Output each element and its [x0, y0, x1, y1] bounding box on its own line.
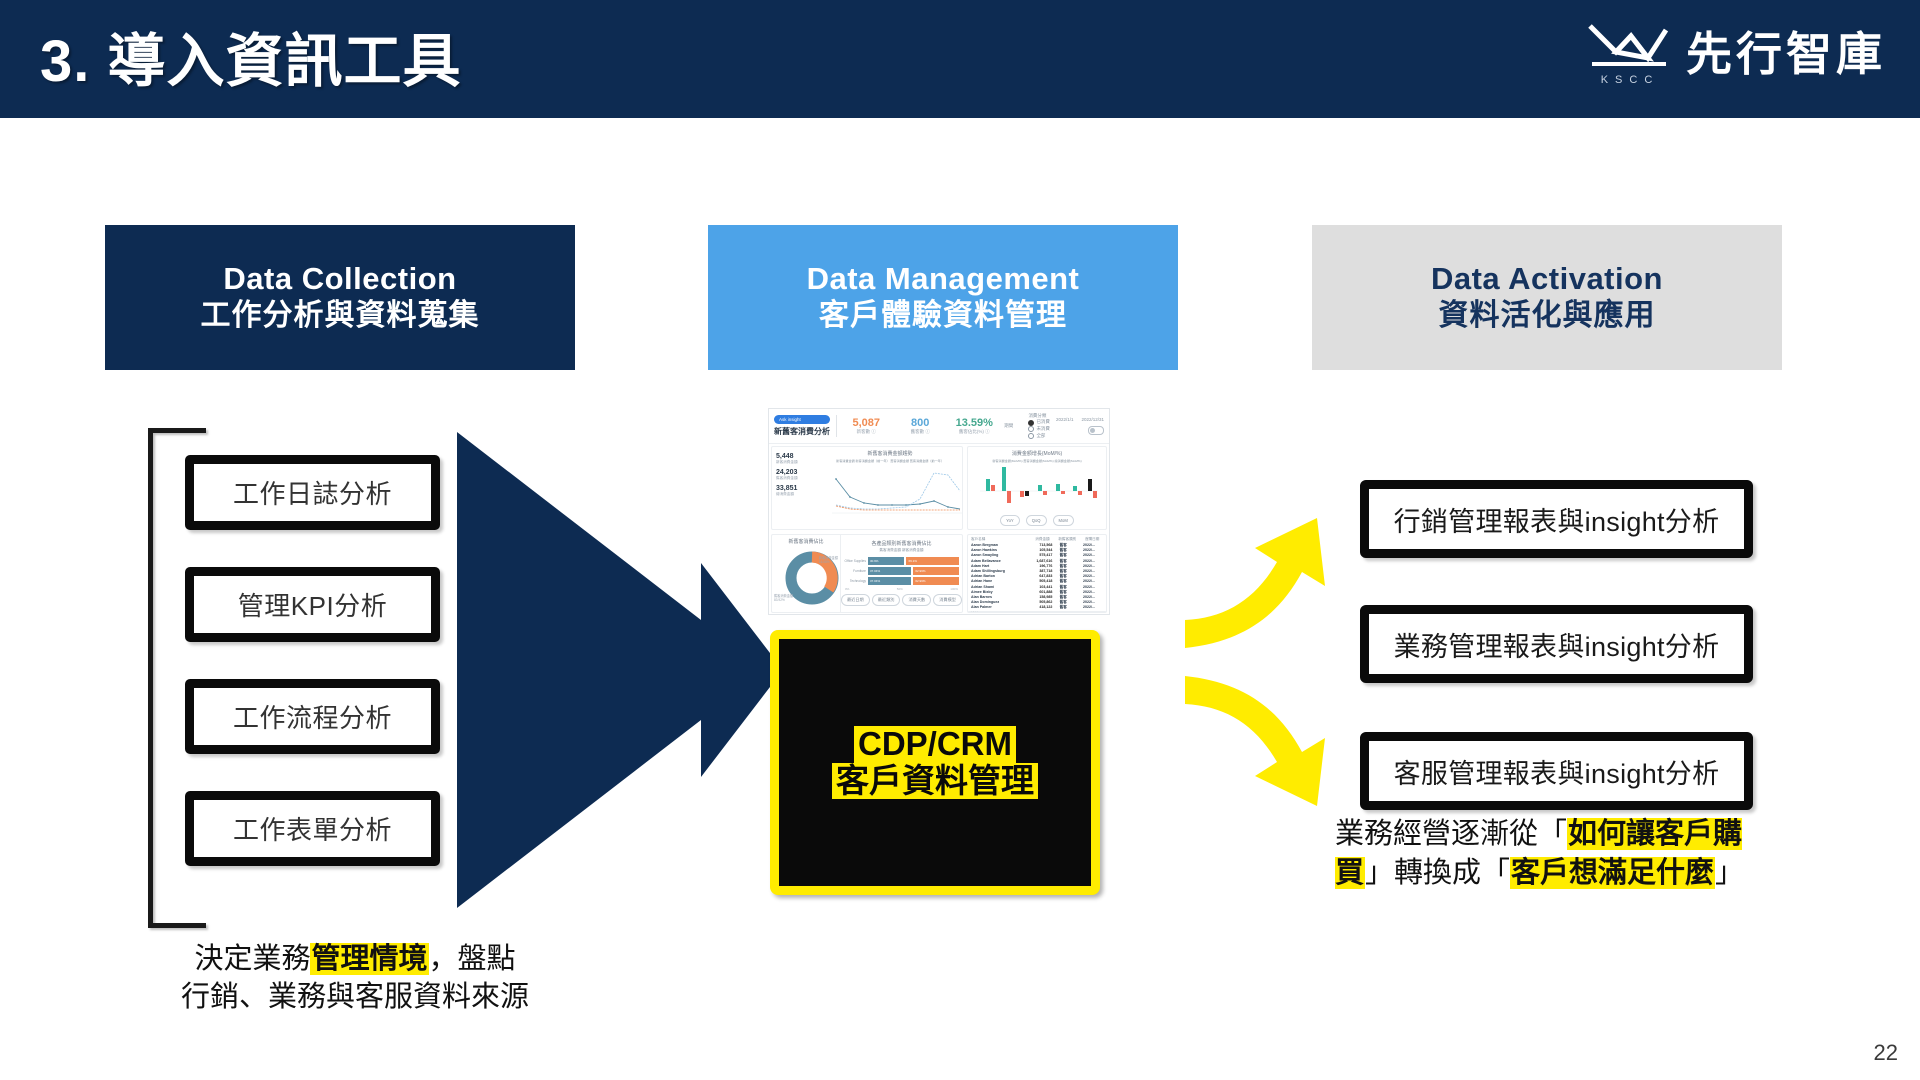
metric-label: 舊客消費金額	[776, 476, 818, 481]
caption-right-pre: 業務經營逐漸從「	[1335, 818, 1567, 850]
metric-label: 總消費金額	[776, 492, 818, 497]
dashboard-title: 新舊客消費分析	[774, 426, 830, 437]
filter-pill[interactable]: 消費天數	[902, 594, 931, 606]
dimension-filter[interactable]: 消費分類 已消費 未消費 全部	[1028, 413, 1050, 440]
metric-value: 24,203	[776, 469, 818, 476]
bar-segment-old: 30.9%	[868, 557, 905, 565]
left-box-label: 工作流程分析	[233, 698, 392, 735]
bar-segment-old: 37.04%	[868, 567, 911, 575]
bar-row: Office Supplies 30.9% 69.1%	[844, 557, 959, 565]
bar-label: Office Supplies	[844, 559, 866, 563]
bar-segment-new: 62.96%	[913, 567, 959, 575]
caption-left-pre: 決定業務	[194, 943, 310, 975]
brand-logo: KSCC 先行智庫	[1586, 18, 1886, 84]
radio-dot-icon	[1028, 433, 1034, 439]
bar-segment-old: 37.04%	[868, 577, 911, 585]
left-box-4: 工作表單分析	[185, 791, 440, 866]
cdp-crm-box: CDP/CRM 客戶資料管理	[770, 630, 1100, 895]
table-total-row: 總計 1,568,501,125	[968, 611, 1106, 613]
table-body: Aaron Bergman713,568舊客2022/...Aaron Hawk…	[968, 543, 1106, 611]
column-header-data-collection: Data Collection 工作分析與資料蒐集	[105, 225, 575, 370]
radio-label: 未消費	[1036, 426, 1050, 433]
kpi-returning-customers: 800 舊客數 ⓘ	[896, 417, 944, 435]
left-box-label: 管理KPI分析	[238, 586, 387, 623]
caption-left: 決定業務管理情境，盤點 行銷、業務與客服資料來源	[120, 940, 590, 1017]
kpi-label: 舊客數 ⓘ	[896, 429, 944, 435]
table-row: Alan Palmer418,122舊客2022/...	[968, 605, 1106, 610]
view-toggle[interactable]	[1088, 426, 1104, 435]
caption-right-mid: 」轉換成「	[1365, 857, 1510, 889]
left-box-1: 工作日誌分析	[185, 455, 440, 530]
period-pill-mom[interactable]: MoM	[1053, 515, 1074, 526]
left-box-label: 工作日誌分析	[233, 474, 392, 511]
bar-segment-new: 69.1%	[906, 557, 959, 565]
kpi-label: 舊客佔比(%) ⓘ	[950, 429, 998, 435]
donut-legend-old: 舊客消費金額 83.92%	[774, 593, 793, 602]
cell-date: 2022/...	[1083, 605, 1103, 610]
column-header-data-management: Data Management 客戶體驗資料管理	[708, 225, 1178, 370]
cell-customer-name: Alan Palmer	[971, 605, 1017, 610]
left-box-3: 工作流程分析	[185, 679, 440, 754]
filter-pill[interactable]: 最近類別	[872, 594, 901, 606]
panel-title: 各產品類別新舊客消費佔比	[841, 540, 962, 547]
funnel-arrow-right-icon	[455, 430, 785, 910]
right-box-2: 業務管理報表與insight分析	[1360, 605, 1753, 683]
metric-value: 33,851	[776, 485, 818, 492]
caption-left-line-1: 決定業務管理情境，盤點	[120, 940, 590, 978]
radio-dot-icon	[1028, 426, 1034, 432]
logo-subtext: KSCC	[1590, 74, 1670, 86]
bar-row: Technology 37.04% 62.96%	[844, 577, 959, 585]
ask-insight-button[interactable]: Ask insight	[774, 415, 830, 424]
column-header-en: Data Collection	[223, 260, 456, 298]
panel-title: 消費金額增長(MoM/%)	[968, 450, 1106, 457]
bar-label: Technology	[844, 579, 866, 583]
filter-pill[interactable]: 最近日期	[841, 594, 870, 606]
column-header-en: Data Management	[807, 260, 1080, 298]
bar-segment-new: 62.96%	[913, 577, 959, 585]
axis-tick: 50%	[897, 587, 903, 591]
column-header-zh: 資料活化與應用	[1439, 298, 1656, 335]
panel-title: 新舊客消費金額趨勢	[818, 450, 962, 457]
kpi-returning-ratio: 13.59% 舊客佔比(%) ⓘ	[950, 417, 998, 435]
right-box-label: 業務管理報表與insight分析	[1394, 625, 1720, 664]
caption-right-post: 」	[1715, 857, 1744, 889]
slide-header: 3. 導入資訊工具 KSCC 先行智庫	[0, 0, 1920, 118]
bar-row: Furniture 37.04% 62.96%	[844, 567, 959, 575]
panel-title: 新舊客消費佔比	[772, 538, 840, 545]
period-pill-yoy[interactable]: YoY	[1000, 515, 1020, 526]
metric-label: 新客消費金額	[776, 460, 818, 465]
total-label: 總計	[971, 612, 1017, 613]
filter-pill[interactable]: 消費模型	[933, 594, 962, 606]
left-box-label: 工作表單分析	[233, 810, 392, 847]
caption-left-post: ，盤點	[429, 943, 516, 975]
radio-label: 全部	[1036, 433, 1045, 440]
logo-wordmark: 先行智庫	[1686, 18, 1886, 84]
kpi-new-customers: 5,087 新客數 ⓘ	[842, 417, 890, 435]
caption-right: 業務經營逐漸從「如何讓客戶購買」轉換成「客戶想滿足什麼」	[1335, 815, 1785, 893]
kpi-value: 13.59%	[950, 417, 998, 429]
donut-legend-new: 新客消費金額 16.08%	[819, 555, 838, 564]
kscc-mountain-icon: KSCC	[1586, 18, 1672, 84]
cdp-line-2: 客戶資料管理	[832, 763, 1038, 800]
kpi-label: 新客數 ⓘ	[842, 429, 890, 435]
caption-right-highlight-2: 客戶想滿足什麼	[1510, 857, 1715, 889]
radio-label: 已消費	[1036, 419, 1050, 426]
radio-dot-icon	[1028, 420, 1034, 426]
table-header-row: 客戶名稱 消費金額 新舊客類別 首購日期	[968, 535, 1106, 543]
right-box-label: 客服管理報表與insight分析	[1394, 752, 1720, 791]
page-title: 3. 導入資訊工具	[40, 14, 462, 98]
line-chart	[820, 461, 963, 521]
panel-legend: 舊客消費金額 新客消費金額	[841, 548, 962, 553]
metric-value: 5,448	[776, 453, 818, 460]
growth-bar-chart	[972, 461, 1100, 509]
kpi-value: 5,087	[842, 417, 890, 429]
cell-amount: 418,122	[1024, 605, 1052, 610]
kpi-value: 800	[896, 417, 944, 429]
column-header: 新舊客類別	[1058, 537, 1076, 542]
page-number: 22	[1874, 1040, 1898, 1066]
radio-option-1[interactable]: 未消費	[1028, 426, 1050, 433]
right-box-1: 行銷管理報表與insight分析	[1360, 480, 1753, 558]
cell-type: 舊客	[1060, 605, 1076, 610]
axis-tick: 0%	[845, 587, 849, 591]
date-to: 2022/12/31	[1081, 417, 1104, 424]
total-amount: 1,568,501,125	[1063, 612, 1103, 613]
column-header-zh: 客戶體驗資料管理	[819, 298, 1067, 335]
panel-customer-table: 客戶名稱 消費金額 新舊客類別 首購日期 Aaron Bergman713,56…	[967, 534, 1107, 613]
cdp-line-1: CDP/CRM	[854, 726, 1016, 763]
column-header-data-activation: Data Activation 資料活化與應用	[1312, 225, 1782, 370]
radio-option-2[interactable]: 全部	[1028, 433, 1050, 440]
dashboard-topbar: Ask insight 新舊客消費分析 5,087 新客數 ⓘ 800 舊客數 …	[769, 409, 1109, 444]
column-header: 首購日期	[1085, 537, 1103, 542]
bar-label: Furniture	[844, 569, 866, 573]
column-header-en: Data Activation	[1431, 260, 1663, 298]
panel-growth: 消費金額增長(MoM/%) 新客消費金額(MoM%) 舊客消費金額(MoM%) …	[967, 446, 1107, 530]
panel-spend-trend: 5,448 新客消費金額 24,203 舊客消費金額 33,851 總消費金額 …	[771, 446, 963, 530]
date-from: 2022/1/1	[1056, 417, 1074, 424]
panel-new-old-ratio: 新舊客消費佔比 新客消費金額 16.08% 舊客消費金額 83.92%	[771, 534, 963, 613]
date-range[interactable]: 2022/1/1 2022/12/31	[1056, 417, 1104, 436]
period-filter-label: 期間	[1004, 423, 1013, 430]
caption-left-line-2: 行銷、業務與客服資料來源	[120, 978, 590, 1016]
period-pill-qoq[interactable]: QoQ	[1026, 515, 1047, 526]
dashboard-body: 5,448 新客消費金額 24,203 舊客消費金額 33,851 總消費金額 …	[769, 444, 1109, 615]
caption-left-highlight: 管理情境	[310, 943, 428, 975]
left-box-2: 管理KPI分析	[185, 567, 440, 642]
column-header: 消費金額	[1026, 537, 1050, 542]
axis-tick: 100%	[950, 587, 958, 591]
radio-option-0[interactable]: 已消費	[1028, 419, 1050, 426]
right-box-3: 客服管理報表與insight分析	[1360, 732, 1753, 810]
column-header: 客戶名稱	[971, 537, 1017, 542]
right-box-label: 行銷管理報表與insight分析	[1394, 500, 1720, 539]
period-filter[interactable]: 期間	[1004, 423, 1013, 430]
column-header-zh: 工作分析與資料蒐集	[201, 298, 480, 335]
dashboard-screenshot: Ask insight 新舊客消費分析 5,087 新客數 ⓘ 800 舊客數 …	[768, 408, 1110, 615]
